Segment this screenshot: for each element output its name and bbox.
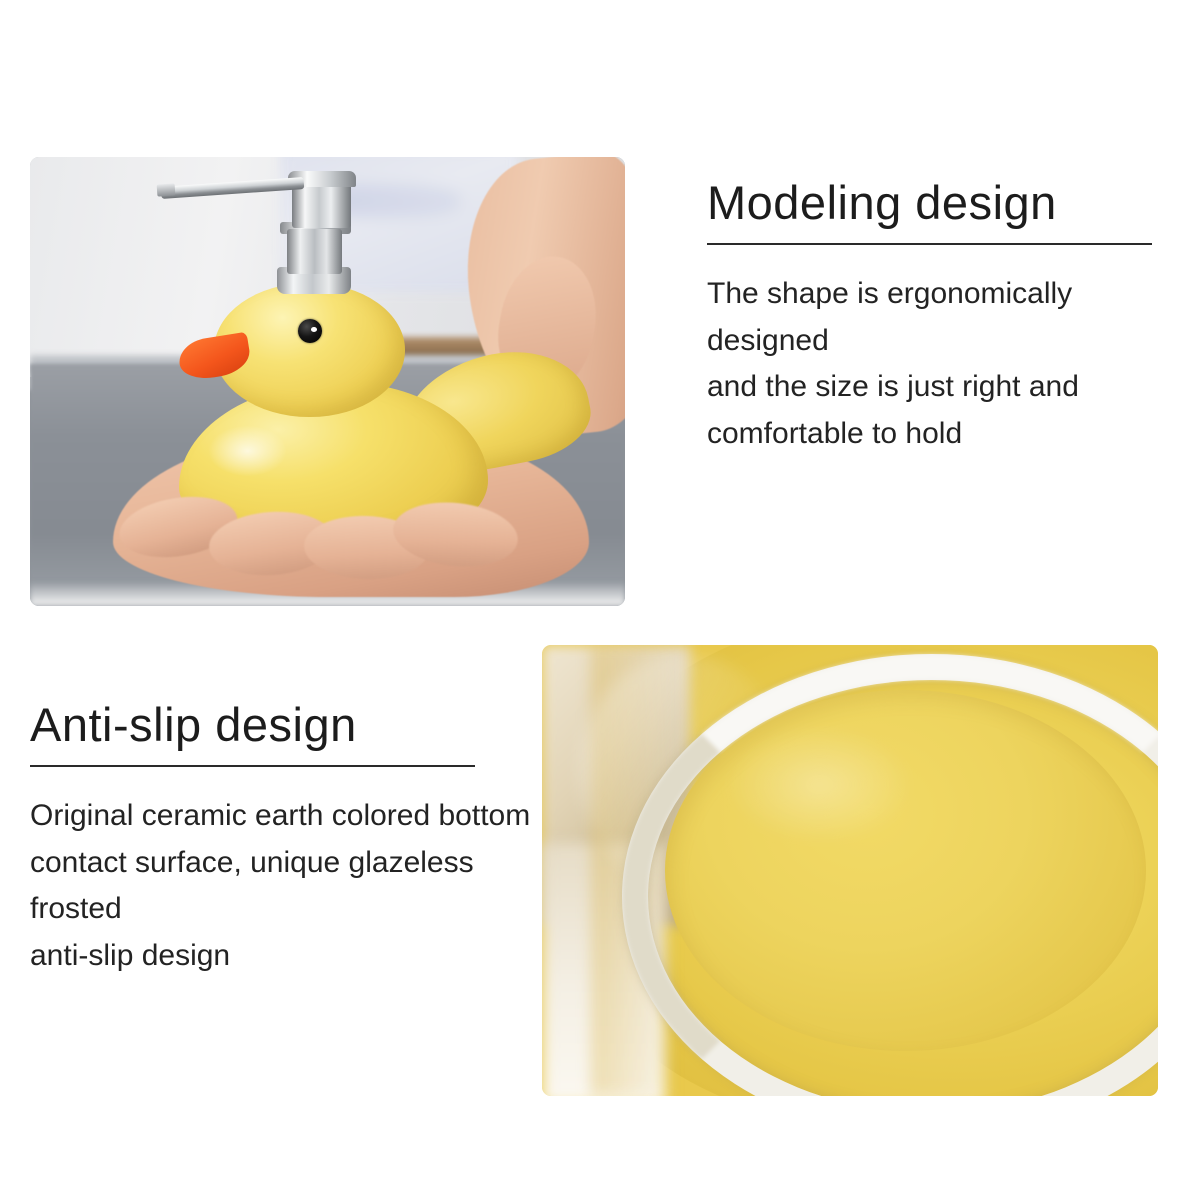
modeling-design-section: Modeling design The shape is ergonomical… xyxy=(707,178,1157,457)
anti-slip-design-heading: Anti-slip design xyxy=(30,700,530,749)
anti-slip-design-body: Original ceramic earth colored bottom co… xyxy=(30,793,535,979)
anti-slip-design-body-line: Original ceramic earth colored bottom xyxy=(30,793,535,840)
modeling-design-body: The shape is ergonomically designed and … xyxy=(707,271,1157,457)
base-inner-surface xyxy=(665,690,1145,1051)
modeling-design-divider xyxy=(707,243,1152,245)
pump-spout-tip xyxy=(156,184,175,197)
pump-neck xyxy=(287,229,342,274)
product-photo-ceramic-base-closeup xyxy=(542,645,1158,1096)
modeling-design-body-line: and the size is just right and xyxy=(707,364,1157,411)
modeling-design-body-line: comfortable to hold xyxy=(707,411,1157,458)
modeling-design-body-line: The shape is ergonomically designed xyxy=(707,271,1157,364)
product-photo-hand-holding-dispenser xyxy=(30,157,625,606)
anti-slip-design-section: Anti-slip design Original ceramic earth … xyxy=(30,700,530,979)
anti-slip-design-body-line: anti-slip design xyxy=(30,933,535,980)
duck-eye xyxy=(298,319,322,343)
anti-slip-design-body-line: contact surface, unique glazeless froste… xyxy=(30,840,535,933)
duck-body-highlight xyxy=(209,426,286,475)
anti-slip-design-divider xyxy=(30,765,475,767)
base-inner-sheen xyxy=(727,726,912,843)
modeling-design-heading: Modeling design xyxy=(707,178,1157,227)
